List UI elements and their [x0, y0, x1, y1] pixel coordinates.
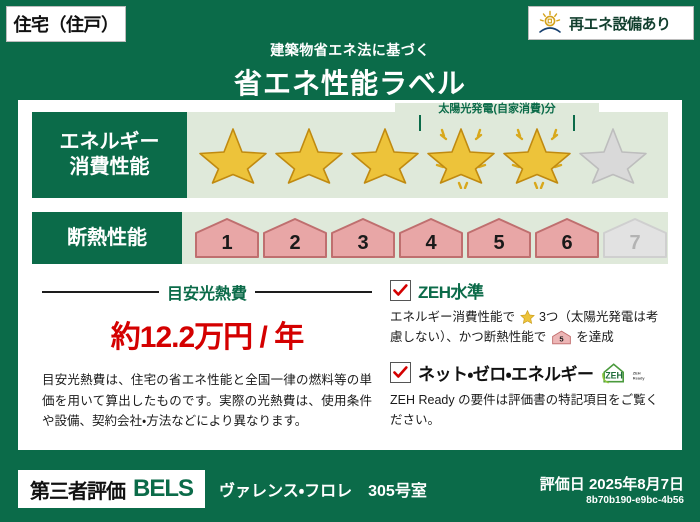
insulation-grade-filled: 1 — [194, 217, 260, 259]
zeh-ready-logo-icon: ZEH ZEH Ready — [601, 360, 647, 386]
label-title: 建築物省エネ法に基づく 省エネ性能ラベル — [0, 40, 700, 102]
net-zero-energy-checkbox[interactable] — [390, 362, 411, 383]
insulation-grade-filled: 4 — [398, 217, 464, 259]
energy-stars-area: 太陽光発電(自家消費)分 — [187, 112, 668, 198]
check-icon — [393, 284, 408, 297]
star-empty — [577, 121, 649, 189]
insulation-grade-number: 2 — [262, 232, 328, 255]
evaluation-date-value: 2025年8月7日 — [589, 476, 684, 493]
zeh-logo-sub-line2: Ready — [632, 375, 645, 380]
insulation-grade-number: 3 — [330, 232, 396, 255]
solar-sun-icon — [537, 10, 563, 36]
zeh-standard-checkbox[interactable] — [390, 280, 411, 301]
utility-cost-heading: 目安光熱費 — [42, 280, 372, 304]
renewable-energy-badge: 再エネ設備あり — [528, 6, 694, 40]
renewable-badge-label: 再エネ設備あり — [569, 13, 671, 34]
star-filled — [349, 121, 421, 189]
zeh-standard-header: ZEH水準 — [390, 278, 670, 303]
insulation-grade-list: 1234567 — [182, 212, 668, 264]
evaluation-id: 8b70b190-e9bc-4b56 — [540, 495, 684, 506]
category-tag-label: 住宅（住戸） — [14, 11, 119, 37]
evaluation-date-label: 評価日 — [540, 476, 585, 493]
insulation-performance-row: 断熱性能 1234567 — [32, 212, 668, 264]
title-subtitle: 建築物省エネ法に基づく — [0, 40, 700, 60]
building-name: ヴァレンス・フロレ 305号室 — [219, 477, 427, 501]
insulation-grade-number: 6 — [534, 232, 600, 255]
label-card: エネルギー 消費性能 太陽光発電(自家消費)分 断熱性能 1234567 目安光… — [18, 100, 682, 450]
net-zero-energy-item: ネット・ゼロ・エネルギー ZEH ZEH Ready ZEH Ready の要件… — [390, 360, 670, 431]
evaluation-info: 評価日 2025年8月7日 8b70b190-e9bc-4b56 — [540, 473, 684, 506]
insulation-grade-filled: 2 — [262, 217, 328, 259]
star-filled — [425, 121, 497, 189]
insulation-grade-filled: 3 — [330, 217, 396, 259]
insulation-grade-filled: 5 — [466, 217, 532, 259]
net-zero-energy-title: ネット・ゼロ・エネルギー — [418, 360, 594, 385]
bels-badge: 第三者評価 BELS — [18, 470, 205, 508]
insulation-label: 断熱性能 — [67, 226, 147, 251]
title-main: 省エネ性能ラベル — [0, 62, 700, 102]
zeh-logo-text: ZEH — [605, 370, 622, 380]
rule-right — [255, 291, 372, 293]
inline-house-icon: 5 — [552, 330, 571, 345]
energy-label-line1: エネルギー — [60, 130, 160, 155]
energy-performance-label: 住宅（住戸） 再エネ設備あり 建築物省エネ法に基づく 省エネ性能ラベル エネルギ… — [0, 0, 700, 522]
utility-cost-block: 目安光熱費 約12.2万円 / 年 目安光熱費は、住宅の省エネ性能と全国一律の燃… — [42, 280, 372, 432]
bels-jp-label: 第三者評価 — [30, 475, 125, 504]
insulation-grade-number: 7 — [602, 232, 668, 255]
star-rating — [187, 112, 668, 198]
insulation-grades-area: 1234567 — [182, 212, 668, 264]
insulation-performance-label-box: 断熱性能 — [32, 212, 182, 264]
bels-en-label: BELS — [133, 475, 193, 503]
inline-star-icon — [520, 310, 535, 324]
solar-caption: 太陽光発電(自家消費)分 — [395, 103, 599, 115]
zeh-desc-part-c: を達成 — [576, 330, 614, 344]
zeh-standard-item: ZEH水準 エネルギー消費性能で 3つ（太陽光発電は考慮しない）、かつ断熱性能で… — [390, 278, 670, 348]
star-filled — [501, 121, 573, 189]
insulation-grade-number: 5 — [466, 232, 532, 255]
utility-cost-note: 目安光熱費は、住宅の省エネ性能と全国一律の燃料等の単価を用いて算出したものです。… — [42, 370, 372, 432]
insulation-grade-number: 4 — [398, 232, 464, 255]
category-tag: 住宅（住戸） — [6, 6, 126, 42]
insulation-grade-empty: 7 — [602, 217, 668, 259]
rule-left — [42, 291, 159, 293]
star-filled — [273, 121, 345, 189]
zeh-standard-description: エネルギー消費性能で 3つ（太陽光発電は考慮しない）、かつ断熱性能で 5 を達成 — [390, 307, 670, 348]
zeh-desc-part-a: エネルギー消費性能で — [390, 310, 515, 324]
net-zero-energy-header: ネット・ゼロ・エネルギー ZEH ZEH Ready — [390, 360, 670, 386]
energy-performance-label-box: エネルギー 消費性能 — [32, 112, 187, 198]
utility-cost-value: 約12.2万円 / 年 — [42, 312, 372, 356]
evaluation-date: 評価日 2025年8月7日 — [540, 473, 684, 494]
insulation-grade-number: 1 — [194, 232, 260, 255]
star-filled — [197, 121, 269, 189]
check-icon — [393, 366, 408, 379]
insulation-grade-filled: 6 — [534, 217, 600, 259]
net-zero-energy-description: ZEH Ready の要件は評価書の特記項目をご覧ください。 — [390, 390, 670, 431]
zeh-standard-title: ZEH水準 — [418, 278, 484, 303]
utility-cost-heading-label: 目安光熱費 — [167, 280, 247, 304]
energy-performance-row: エネルギー 消費性能 太陽光発電(自家消費)分 — [32, 112, 668, 198]
footer-bar: 第三者評価 BELS ヴァレンス・フロレ 305号室 評価日 2025年8月7日… — [0, 456, 700, 522]
energy-label-line2: 消費性能 — [70, 155, 150, 180]
zeh-section: ZEH水準 エネルギー消費性能で 3つ（太陽光発電は考慮しない）、かつ断熱性能で… — [390, 278, 670, 442]
